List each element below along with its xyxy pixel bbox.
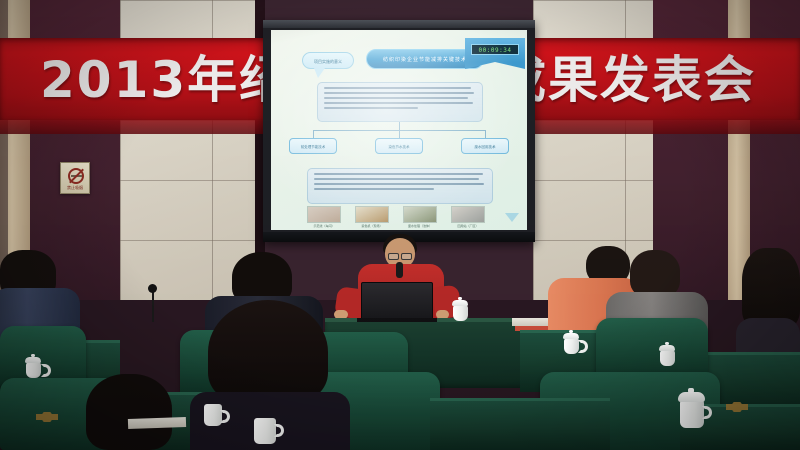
slide-thumbnail-2 <box>355 206 389 223</box>
teacup-body <box>564 338 579 354</box>
teacup-lid <box>563 333 579 339</box>
teacup-knob <box>569 330 573 333</box>
speech-bubble-tail-icon <box>314 68 325 78</box>
front-table-center <box>430 398 610 450</box>
slide-thumbnail-caption-2: 染色机（现场） <box>352 224 392 228</box>
org-connector-drop-1 <box>313 130 314 138</box>
microphone-head-icon <box>148 284 157 293</box>
org-connector-drop-2 <box>399 130 400 138</box>
laptop-screen <box>361 282 433 322</box>
laptop-base <box>357 318 437 322</box>
teacup-body <box>26 362 41 378</box>
teacup-lid <box>659 345 675 351</box>
org-connector-drop-3 <box>485 130 486 138</box>
teacup-body <box>453 305 468 321</box>
attendee-hair <box>630 250 680 298</box>
teacup-knob <box>31 354 35 357</box>
no-smoking-label: 禁止吸烟 <box>61 185 89 191</box>
teacup-body <box>680 400 704 428</box>
slide-thumbnail-1 <box>307 206 341 223</box>
document-front-left <box>128 417 186 429</box>
attendee-hair <box>742 248 800 328</box>
slide-paragraph-2 <box>307 168 493 204</box>
slide-thumbnail-caption-1: 示范线（车间） <box>304 224 344 228</box>
teacup-body <box>660 350 675 366</box>
projection-screen: 项目实施的意义 纺织印染企业节能减排关键技术 00:09:34 <box>263 20 535 242</box>
org-box-3: 废水回用技术 <box>461 138 509 154</box>
conference-hall-photo: 禁止吸烟 2013年绍兴市 成果发表会 项目实施的意义 纺织印染企业节能减排关键… <box>0 0 800 450</box>
slide-thumbnail-caption-3: 废水处理（池体） <box>400 224 440 228</box>
org-box-1: 前处理节能技术 <box>289 138 337 154</box>
teacup-lid <box>678 392 705 402</box>
teacup-lid <box>25 357 41 363</box>
banner-text-right: 成果发表会 <box>496 44 756 116</box>
org-box-2: 染色节水技术 <box>375 138 423 154</box>
attendee-hair <box>86 374 172 450</box>
teacup-knob <box>665 342 669 345</box>
slide-speech-bubble: 项目实施的意义 <box>302 52 354 69</box>
slide-thumbnail-3 <box>403 206 437 223</box>
teacup-knob <box>688 388 694 393</box>
slide-thumbnail-4 <box>451 206 485 223</box>
presentation-slide: 项目实施的意义 纺织印染企业节能减排关键技术 00:09:34 <box>271 30 527 230</box>
screen-top-frame <box>263 20 535 28</box>
slide-timer-ribbon: 00:09:34 <box>465 38 525 62</box>
teacup-knob <box>458 297 462 300</box>
countdown-timer-value: 00:09:34 <box>471 44 519 55</box>
timer-ribbon-shape: 00:09:34 <box>465 38 525 62</box>
triangle-logo-icon <box>505 213 519 222</box>
no-smoking-sign: 禁止吸烟 <box>60 162 90 194</box>
attendee-hair <box>208 300 328 404</box>
slide-paragraph-1 <box>317 82 483 122</box>
microphone-stem <box>152 290 154 322</box>
teacup-lid <box>452 300 468 306</box>
glasses-icon <box>388 253 412 258</box>
microphone-icon <box>396 262 403 278</box>
mug-body <box>254 418 276 444</box>
slide-thumbnail-caption-4: 回用站（厂区） <box>448 224 488 228</box>
slide-speech-bubble-text: 项目实施的意义 <box>303 53 353 68</box>
